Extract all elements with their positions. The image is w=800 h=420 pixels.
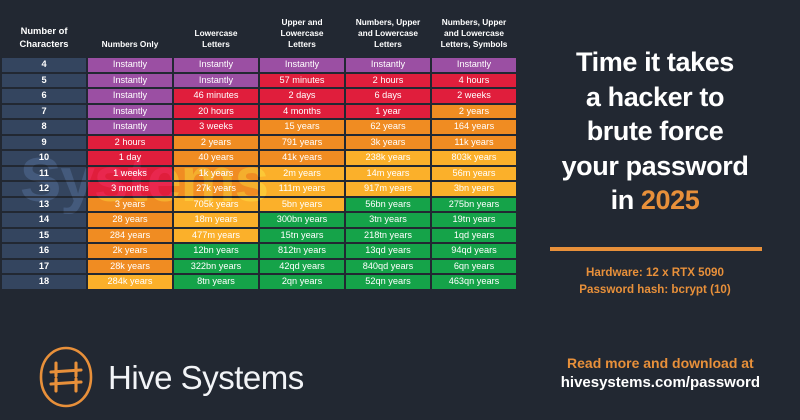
crack-time-cell: 46 minutes bbox=[174, 89, 258, 103]
crack-time-cell: 14m years bbox=[346, 167, 430, 181]
headline-line-4: your password bbox=[514, 149, 796, 184]
crack-time-cell: 3 weeks bbox=[174, 120, 258, 134]
crack-time-cell: 322bn years bbox=[174, 260, 258, 274]
hash-line: Password hash: bcrypt (10) bbox=[514, 282, 796, 299]
table-row: 1428 years18m years300bn years3tn years1… bbox=[2, 213, 516, 227]
crack-time-cell: Instantly bbox=[260, 58, 344, 72]
crack-time-cell: 6 days bbox=[346, 89, 430, 103]
hardware-line: Hardware: 12 x RTX 5090 bbox=[514, 265, 796, 282]
crack-time-cell: 27k years bbox=[174, 182, 258, 196]
crack-time-cell: 238k years bbox=[346, 151, 430, 165]
table-row: 6Instantly46 minutes2 days6 days2 weeks bbox=[2, 89, 516, 103]
crack-time-cell: 1 day bbox=[88, 151, 172, 165]
crack-time-cell: 917m years bbox=[346, 182, 430, 196]
crack-time-cell: 12bn years bbox=[174, 244, 258, 258]
column-header-5: Numbers, Upperand LowercaseLetters, Symb… bbox=[432, 2, 516, 56]
crack-time-cell: 19tn years bbox=[432, 213, 516, 227]
table-row: 7Instantly20 hours4 months1 year2 years bbox=[2, 105, 516, 119]
crack-time-cell: 2 days bbox=[260, 89, 344, 103]
char-count-cell: 7 bbox=[2, 105, 86, 119]
crack-time-cell: 18m years bbox=[174, 213, 258, 227]
crack-time-cell: 57 minutes bbox=[260, 74, 344, 88]
crack-time-cell: 11k years bbox=[432, 136, 516, 150]
column-header-1: Numbers Only bbox=[88, 2, 172, 56]
crack-time-cell: Instantly bbox=[174, 58, 258, 72]
crack-time-cell: 28k years bbox=[88, 260, 172, 274]
crack-time-cell: 3bn years bbox=[432, 182, 516, 196]
crack-time-cell: 56m years bbox=[432, 167, 516, 181]
crack-time-cell: Instantly bbox=[88, 74, 172, 88]
column-header-0: Number ofCharacters bbox=[2, 2, 86, 56]
table-row: 18284k years8tn years2qn years52qn years… bbox=[2, 275, 516, 289]
table-row: 15284 years477m years15tn years218tn yea… bbox=[2, 229, 516, 243]
headline-in-word: in bbox=[611, 185, 641, 215]
table-row: 123 months27k years111m years917m years3… bbox=[2, 182, 516, 196]
char-count-cell: 6 bbox=[2, 89, 86, 103]
crack-time-cell: 791 years bbox=[260, 136, 344, 150]
crack-time-cell: 284 years bbox=[88, 229, 172, 243]
crack-time-cell: 803k years bbox=[432, 151, 516, 165]
crack-time-cell: 705k years bbox=[174, 198, 258, 212]
hive-hexagon-icon bbox=[38, 346, 94, 408]
cta-block[interactable]: Read more and download at hivesystems.co… bbox=[561, 354, 760, 393]
crack-time-cell: 56bn years bbox=[346, 198, 430, 212]
char-count-cell: 4 bbox=[2, 58, 86, 72]
table-row: 1728k years322bn years42qd years840qd ye… bbox=[2, 260, 516, 274]
crack-time-cell: 218tn years bbox=[346, 229, 430, 243]
crack-time-cell: Instantly bbox=[432, 58, 516, 72]
cta-label: Read more and download at bbox=[561, 354, 760, 373]
crack-time-cell: 8tn years bbox=[174, 275, 258, 289]
char-count-cell: 15 bbox=[2, 229, 86, 243]
crack-time-cell: 2 hours bbox=[88, 136, 172, 150]
crack-time-cell: Instantly bbox=[88, 120, 172, 134]
char-count-cell: 14 bbox=[2, 213, 86, 227]
crack-time-cell: 2 weeks bbox=[432, 89, 516, 103]
crack-time-cell: 52qn years bbox=[346, 275, 430, 289]
char-count-cell: 9 bbox=[2, 136, 86, 150]
table-header-row: Number ofCharactersNumbers OnlyLowercase… bbox=[2, 2, 516, 56]
crack-time-cell: 62 years bbox=[346, 120, 430, 134]
crack-time-cell: 94qd years bbox=[432, 244, 516, 258]
crack-time-cell: Instantly bbox=[174, 74, 258, 88]
crack-time-cell: 3 years bbox=[88, 198, 172, 212]
headline-line-3: brute force bbox=[514, 114, 796, 149]
crack-time-cell: 300bn years bbox=[260, 213, 344, 227]
table-row: 133 years705k years5bn years56bn years27… bbox=[2, 198, 516, 212]
crack-time-cell: 13qd years bbox=[346, 244, 430, 258]
methodology-block: Hardware: 12 x RTX 5090 Password hash: b… bbox=[514, 265, 796, 299]
table-row: 111 weeks1k years2m years14m years56m ye… bbox=[2, 167, 516, 181]
crack-time-cell: 284k years bbox=[88, 275, 172, 289]
crack-time-cell: 4 months bbox=[260, 105, 344, 119]
crack-time-cell: 275bn years bbox=[432, 198, 516, 212]
char-count-cell: 13 bbox=[2, 198, 86, 212]
crack-time-cell: Instantly bbox=[88, 105, 172, 119]
crack-time-cell: 4 hours bbox=[432, 74, 516, 88]
crack-time-cell: 1 year bbox=[346, 105, 430, 119]
crack-time-cell: 20 hours bbox=[174, 105, 258, 119]
crack-time-cell: 40 years bbox=[174, 151, 258, 165]
crack-time-cell: 2 hours bbox=[346, 74, 430, 88]
table-body: 4InstantlyInstantlyInstantlyInstantlyIns… bbox=[2, 58, 516, 289]
crack-time-cell: 2qn years bbox=[260, 275, 344, 289]
password-strength-table: Number ofCharactersNumbers OnlyLowercase… bbox=[0, 0, 518, 291]
brand-logo-group: Hive Systems bbox=[38, 346, 304, 408]
crack-time-cell: 111m years bbox=[260, 182, 344, 196]
crack-time-cell: 41k years bbox=[260, 151, 344, 165]
char-count-cell: 12 bbox=[2, 182, 86, 196]
char-count-cell: 5 bbox=[2, 74, 86, 88]
right-panel: Time it takes a hacker to brute force yo… bbox=[508, 0, 800, 330]
column-header-4: Numbers, Upperand LowercaseLetters bbox=[346, 2, 430, 56]
table-row: 4InstantlyInstantlyInstantlyInstantlyIns… bbox=[2, 58, 516, 72]
char-count-cell: 17 bbox=[2, 260, 86, 274]
table-row: 5InstantlyInstantly57 minutes2 hours4 ho… bbox=[2, 74, 516, 88]
crack-time-cell: Instantly bbox=[88, 89, 172, 103]
crack-time-cell: 812tn years bbox=[260, 244, 344, 258]
crack-time-cell: 6qn years bbox=[432, 260, 516, 274]
footer-bar: Hive Systems Read more and download at h… bbox=[0, 332, 800, 420]
crack-time-cell: 2 years bbox=[432, 105, 516, 119]
crack-time-cell: 2 years bbox=[174, 136, 258, 150]
crack-time-cell: 3k years bbox=[346, 136, 430, 150]
column-header-2: LowercaseLetters bbox=[174, 2, 258, 56]
crack-time-cell: Instantly bbox=[346, 58, 430, 72]
char-count-cell: 10 bbox=[2, 151, 86, 165]
char-count-cell: 8 bbox=[2, 120, 86, 134]
crack-time-cell: 840qd years bbox=[346, 260, 430, 274]
crack-time-cell: 3 months bbox=[88, 182, 172, 196]
cta-url[interactable]: hivesystems.com/password bbox=[561, 373, 760, 393]
crack-time-cell: 1k years bbox=[174, 167, 258, 181]
headline: Time it takes a hacker to brute force yo… bbox=[514, 45, 796, 218]
table-row: 92 hours2 years791 years3k years11k year… bbox=[2, 136, 516, 150]
crack-time-cell: 1qd years bbox=[432, 229, 516, 243]
crack-time-cell: 5bn years bbox=[260, 198, 344, 212]
table-header: Number ofCharactersNumbers OnlyLowercase… bbox=[2, 2, 516, 56]
crack-time-cell: 477m years bbox=[174, 229, 258, 243]
char-count-cell: 11 bbox=[2, 167, 86, 181]
headline-line-5: in 2025 bbox=[514, 183, 796, 218]
crack-time-cell: 164 years bbox=[432, 120, 516, 134]
crack-time-cell: 463qn years bbox=[432, 275, 516, 289]
crack-time-cell: 28 years bbox=[88, 213, 172, 227]
brand-name: Hive Systems bbox=[108, 361, 304, 394]
table-row: 8Instantly3 weeks15 years62 years164 yea… bbox=[2, 120, 516, 134]
table-row: 101 day40 years41k years238k years803k y… bbox=[2, 151, 516, 165]
char-count-cell: 18 bbox=[2, 275, 86, 289]
crack-time-cell: 1 weeks bbox=[88, 167, 172, 181]
crack-time-cell: 42qd years bbox=[260, 260, 344, 274]
column-header-3: Upper andLowercaseLetters bbox=[260, 2, 344, 56]
headline-year: 2025 bbox=[641, 185, 699, 215]
headline-line-2: a hacker to bbox=[514, 80, 796, 115]
divider-rule bbox=[550, 247, 762, 251]
crack-time-cell: 2k years bbox=[88, 244, 172, 258]
crack-time-cell: Instantly bbox=[88, 58, 172, 72]
crack-time-cell: 15tn years bbox=[260, 229, 344, 243]
password-strength-table-wrapper: Number ofCharactersNumbers OnlyLowercase… bbox=[0, 0, 505, 330]
table-row: 162k years12bn years812tn years13qd year… bbox=[2, 244, 516, 258]
infographic-page: Systems Number ofCharactersNumbers OnlyL… bbox=[0, 0, 800, 420]
crack-time-cell: 2m years bbox=[260, 167, 344, 181]
char-count-cell: 16 bbox=[2, 244, 86, 258]
headline-line-1: Time it takes bbox=[514, 45, 796, 80]
crack-time-cell: 15 years bbox=[260, 120, 344, 134]
crack-time-cell: 3tn years bbox=[346, 213, 430, 227]
